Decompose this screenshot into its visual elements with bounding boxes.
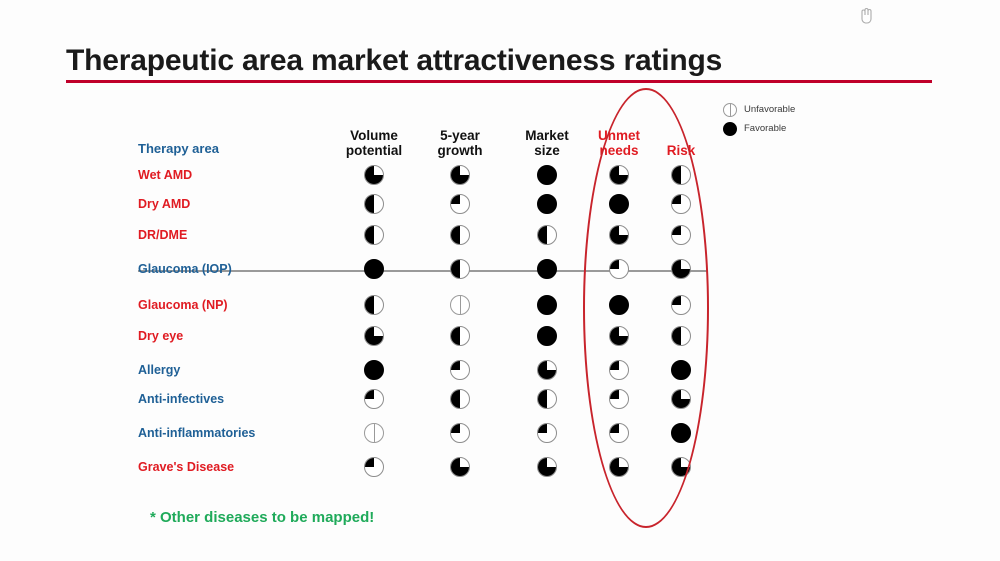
rating-cell (537, 389, 559, 411)
harvey-ball-wedge (538, 390, 556, 408)
harvey-ball-75 (537, 457, 557, 477)
harvey-ball-wedge (451, 327, 469, 345)
rating-cell (537, 259, 559, 281)
rating-cell (671, 389, 693, 411)
harvey-ball-wedge (672, 296, 690, 314)
harvey-ball-wedge (365, 195, 383, 213)
ratings-matrix: Therapy area Volumepotential5-yeargrowth… (138, 112, 718, 158)
rating-cell (609, 295, 631, 317)
harvey-ball-wedge (538, 424, 556, 442)
harvey-ball-100 (609, 194, 629, 214)
row-label-therapy-area: Allergy (138, 359, 180, 381)
title-underline-rule (66, 80, 932, 83)
harvey-ball-wedge (451, 260, 469, 278)
harvey-ball-100 (537, 326, 557, 346)
harvey-ball-wedge (538, 226, 556, 244)
rating-cell (450, 423, 472, 445)
harvey-ball-100 (609, 295, 629, 315)
harvey-ball-50 (450, 225, 470, 245)
harvey-ball-wedge (451, 361, 469, 379)
harvey-ball-50 (537, 389, 557, 409)
slide-canvas: Therapeutic area market attractiveness r… (0, 0, 1000, 561)
rating-cell (364, 295, 386, 317)
rating-cell (364, 423, 386, 445)
harvey-ball-wedge (365, 226, 383, 244)
harvey-ball-75 (450, 457, 470, 477)
harvey-ball-25 (450, 194, 470, 214)
harvey-ball-75 (364, 326, 384, 346)
table-row: Anti-inflammatories (138, 422, 718, 444)
column-header-line2: Risk (636, 143, 726, 158)
rating-cell (364, 259, 386, 281)
harvey-ball-wedge (672, 390, 690, 408)
rating-cell (609, 423, 631, 445)
empty-circle-icon (723, 103, 737, 117)
harvey-ball-wedge (610, 424, 628, 442)
rating-cell (609, 457, 631, 479)
table-row: Grave's Disease (138, 456, 718, 478)
row-label-therapy-area: Glaucoma (NP) (138, 294, 228, 316)
page-title: Therapeutic area market attractiveness r… (66, 44, 722, 78)
hand-pointer-icon (857, 6, 875, 26)
rating-cell (537, 194, 559, 216)
harvey-ball-wedge (365, 390, 383, 408)
matrix-header-row: Therapy area Volumepotential5-yeargrowth… (138, 112, 718, 158)
harvey-ball-25 (537, 423, 557, 443)
column-header-line2: growth (415, 143, 505, 158)
harvey-ball-75 (609, 457, 629, 477)
row-label-therapy-area: Wet AMD (138, 164, 192, 186)
harvey-ball-100 (671, 423, 691, 443)
harvey-ball-25 (671, 295, 691, 315)
column-header-line1: Unmet (574, 128, 664, 143)
row-label-therapy-area: Glaucoma (IOP) (138, 258, 232, 280)
rating-cell (671, 457, 693, 479)
rating-cell (537, 326, 559, 348)
harvey-ball-wedge (672, 166, 690, 184)
rating-cell (364, 360, 386, 382)
rating-cell (450, 457, 472, 479)
harvey-ball-wedge (538, 361, 556, 379)
rating-cell (450, 326, 472, 348)
harvey-ball-75 (609, 165, 629, 185)
harvey-ball-100 (537, 295, 557, 315)
rating-cell (364, 165, 386, 187)
legend-item: Favorable (723, 120, 853, 137)
rating-cell (671, 326, 693, 348)
rating-cell (537, 225, 559, 247)
harvey-ball-0 (364, 423, 384, 443)
harvey-ball-75 (609, 326, 629, 346)
harvey-ball-wedge (451, 424, 469, 442)
harvey-ball-50 (450, 326, 470, 346)
table-row: DR/DME (138, 224, 718, 246)
harvey-ball-75 (671, 457, 691, 477)
harvey-ball-100 (537, 194, 557, 214)
harvey-ball-50 (671, 326, 691, 346)
harvey-ball-wedge (451, 195, 469, 213)
harvey-ball-0 (450, 295, 470, 315)
table-row: Allergy (138, 359, 718, 381)
rating-cell (609, 326, 631, 348)
harvey-ball-wedge (451, 390, 469, 408)
rating-cell (671, 360, 693, 382)
legend-item: Unfavorable (723, 101, 853, 118)
harvey-ball-wedge (672, 195, 690, 213)
rating-cell (364, 389, 386, 411)
rating-cell (450, 225, 472, 247)
rating-cell (671, 194, 693, 216)
legend: UnfavorableFavorable (723, 101, 853, 139)
rating-cell (364, 326, 386, 348)
row-label-therapy-area: Anti-infectives (138, 388, 224, 410)
harvey-ball-75 (364, 165, 384, 185)
harvey-ball-wedge (365, 327, 383, 345)
harvey-ball-100 (364, 259, 384, 279)
harvey-ball-100 (364, 360, 384, 380)
rating-cell (671, 165, 693, 187)
table-row: Dry AMD (138, 193, 718, 215)
harvey-ball-50 (450, 389, 470, 409)
legend-item-label: Favorable (744, 123, 786, 134)
column-header-5-year: 5-yeargrowth (415, 128, 505, 158)
harvey-ball-25 (609, 259, 629, 279)
filled-circle-icon (723, 122, 737, 136)
rating-cell (537, 423, 559, 445)
table-row: Anti-infectives (138, 388, 718, 410)
rating-cell (450, 194, 472, 216)
harvey-ball-wedge (365, 296, 383, 314)
rating-cell (609, 225, 631, 247)
rating-cell (537, 165, 559, 187)
column-header-line1: 5-year (415, 128, 505, 143)
row-label-therapy-area: DR/DME (138, 224, 187, 246)
row-label-therapy-area: Dry eye (138, 325, 183, 347)
harvey-ball-wedge (672, 458, 690, 476)
harvey-ball-wedge (365, 166, 383, 184)
column-header-volume: Volumepotential (329, 128, 419, 158)
harvey-ball-wedge (610, 226, 628, 244)
harvey-ball-50 (450, 259, 470, 279)
harvey-ball-75 (609, 225, 629, 245)
harvey-ball-wedge (610, 458, 628, 476)
harvey-ball-wedge (451, 226, 469, 244)
harvey-ball-wedge (451, 458, 469, 476)
harvey-ball-50 (671, 165, 691, 185)
row-label-therapy-area: Anti-inflammatories (138, 422, 255, 444)
harvey-ball-75 (671, 259, 691, 279)
harvey-ball-25 (450, 360, 470, 380)
harvey-ball-100 (537, 259, 557, 279)
rating-cell (450, 389, 472, 411)
harvey-ball-wedge (538, 458, 556, 476)
rating-cell (450, 360, 472, 382)
rating-cell (609, 165, 631, 187)
table-row: Dry eye (138, 325, 718, 347)
harvey-ball-wedge (610, 327, 628, 345)
rating-cell (364, 194, 386, 216)
harvey-ball-wedge (672, 260, 690, 278)
rating-cell (671, 225, 693, 247)
legend-item-label: Unfavorable (744, 104, 795, 115)
rating-cell (609, 194, 631, 216)
table-row: Glaucoma (IOP) (138, 258, 718, 280)
column-header-therapy-area: Therapy area (138, 141, 219, 156)
harvey-ball-50 (364, 225, 384, 245)
row-label-therapy-area: Dry AMD (138, 193, 190, 215)
harvey-ball-25 (364, 389, 384, 409)
harvey-ball-25 (450, 423, 470, 443)
harvey-ball-wedge (365, 458, 383, 476)
harvey-ball-wedge (610, 166, 628, 184)
harvey-ball-25 (671, 225, 691, 245)
harvey-ball-100 (671, 360, 691, 380)
harvey-ball-25 (364, 457, 384, 477)
harvey-ball-wedge (610, 260, 628, 278)
harvey-ball-wedge (451, 166, 469, 184)
table-row: Glaucoma (NP) (138, 294, 718, 316)
row-label-therapy-area: Grave's Disease (138, 456, 234, 478)
rating-cell (450, 165, 472, 187)
rating-cell (609, 389, 631, 411)
rating-cell (537, 360, 559, 382)
rating-cell (364, 457, 386, 479)
harvey-ball-25 (609, 423, 629, 443)
rating-cell (450, 295, 472, 317)
harvey-ball-wedge (672, 226, 690, 244)
footnote-text: * Other diseases to be mapped! (150, 509, 374, 526)
harvey-ball-50 (537, 225, 557, 245)
harvey-ball-75 (537, 360, 557, 380)
harvey-ball-75 (671, 389, 691, 409)
rating-cell (671, 295, 693, 317)
harvey-ball-wedge (672, 327, 690, 345)
rating-cell (537, 295, 559, 317)
harvey-ball-25 (609, 389, 629, 409)
rating-cell (609, 360, 631, 382)
harvey-ball-wedge (610, 361, 628, 379)
rating-cell (364, 225, 386, 247)
rating-cell (537, 457, 559, 479)
column-header-line1: Volume (329, 128, 419, 143)
harvey-ball-wedge (610, 390, 628, 408)
rating-cell (671, 423, 693, 445)
harvey-ball-25 (671, 194, 691, 214)
rating-cell (450, 259, 472, 281)
harvey-ball-25 (609, 360, 629, 380)
table-row: Wet AMD (138, 164, 718, 186)
harvey-ball-50 (364, 295, 384, 315)
column-header-risk: Risk (636, 143, 726, 158)
harvey-ball-100 (537, 165, 557, 185)
rating-cell (609, 259, 631, 281)
harvey-ball-75 (450, 165, 470, 185)
rating-cell (671, 259, 693, 281)
harvey-ball-50 (364, 194, 384, 214)
column-header-line2: potential (329, 143, 419, 158)
